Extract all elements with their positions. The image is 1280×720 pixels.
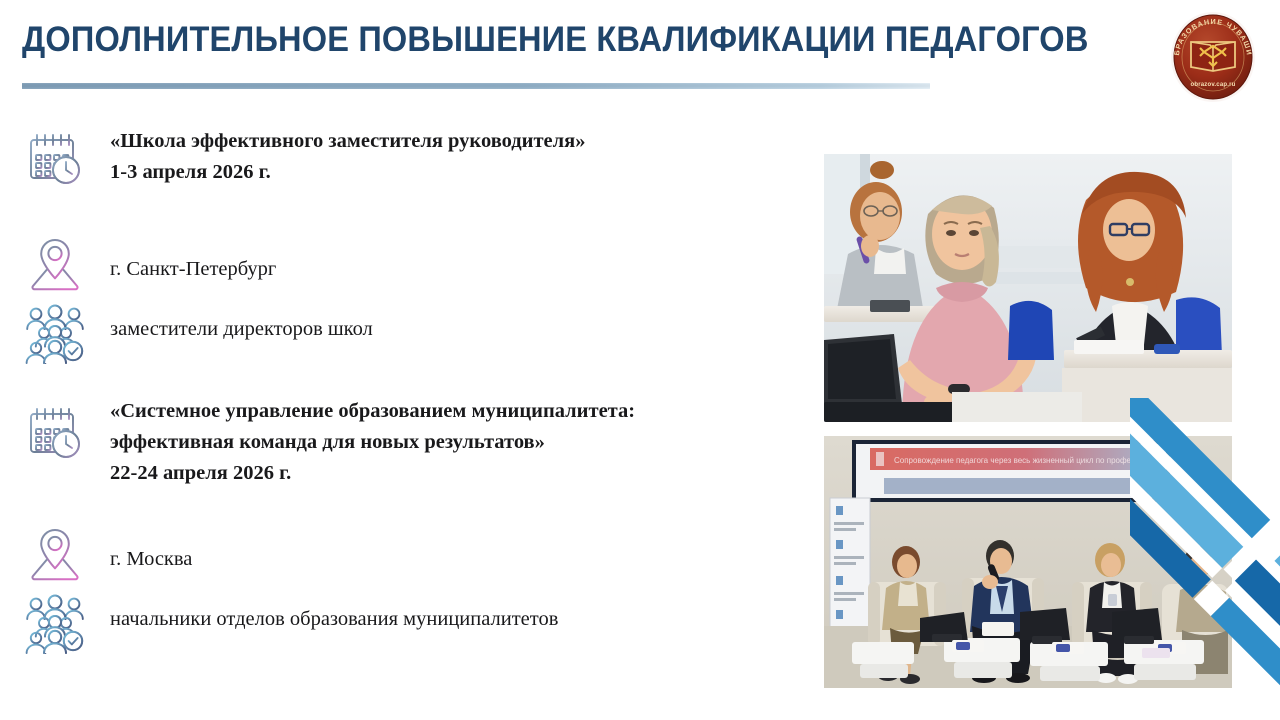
program-1-audience-row: заместители директоров школ bbox=[0, 302, 790, 374]
program-2-dates: 22-24 апреля 2026 г. bbox=[110, 462, 291, 484]
page-title: ДОПОЛНИТЕЛЬНОЕ ПОВЫШЕНИЕ КВАЛИФИКАЦИИ ПЕ… bbox=[22, 18, 1064, 62]
program-2-audience-row: начальники отделов образования муниципал… bbox=[0, 592, 790, 664]
map-pin-icon bbox=[24, 234, 86, 296]
svg-text:Сопровождение педагога через в: Сопровождение педагога через весь жизнен… bbox=[894, 456, 1148, 465]
people-check-icon bbox=[24, 302, 86, 364]
photo-classroom: Три женщины за учебными столами в аудито… bbox=[824, 154, 1232, 422]
program-2-title-line-1: «Системное управление образованием муниц… bbox=[110, 400, 635, 422]
program-2-place-row: г. Москва bbox=[0, 524, 790, 594]
program-2-place: г. Москва bbox=[110, 544, 192, 575]
people-check-icon bbox=[24, 592, 86, 654]
slide-root: ДОПОЛНИТЕЛЬНОЕ ПОВЫШЕНИЕ КВАЛИФИКАЦИИ ПЕ… bbox=[0, 0, 1280, 720]
program-1-date-row: «Школа эффективного заместителя руководи… bbox=[0, 126, 790, 204]
program-1-place-row: г. Санкт-Петербург bbox=[0, 234, 790, 304]
calendar-clock-icon bbox=[24, 402, 86, 464]
program-2-title: «Системное управление образованием муниц… bbox=[110, 396, 770, 489]
program-2-audience: начальники отделов образования муниципал… bbox=[110, 604, 770, 635]
svg-text:obrazov.cap.ru: obrazov.cap.ru bbox=[1190, 82, 1235, 88]
calendar-clock-icon bbox=[24, 128, 86, 190]
programs-list: «Школа эффективного заместителя руководи… bbox=[0, 118, 790, 718]
program-1-title: «Школа эффективного заместителя руководи… bbox=[110, 126, 770, 188]
photo-panel: Сопровождение педагога через весь жизнен… bbox=[824, 436, 1232, 688]
program-1-audience: заместители директоров школ bbox=[110, 314, 770, 345]
program-1-dates: 1-3 апреля 2026 г. bbox=[110, 161, 271, 183]
program-1-place: г. Санкт-Петербург bbox=[110, 254, 276, 285]
program-2-title-line-2: эффективная команда для новых результато… bbox=[110, 431, 545, 453]
program-2-date-row: «Системное управление образованием муниц… bbox=[0, 400, 790, 478]
obrazovanie-chuvashii-logo: ОБРАЗОВАНИЕ ЧУВАШИИ obrazov.cap.ru ОБРАЗ… bbox=[1163, 6, 1263, 106]
map-pin-icon bbox=[24, 524, 86, 586]
title-divider bbox=[22, 83, 930, 89]
program-1-title-text: «Школа эффективного заместителя руководи… bbox=[110, 130, 585, 152]
slide-header: ДОПОЛНИТЕЛЬНОЕ ПОВЫШЕНИЕ КВАЛИФИКАЦИИ ПЕ… bbox=[0, 0, 1280, 108]
